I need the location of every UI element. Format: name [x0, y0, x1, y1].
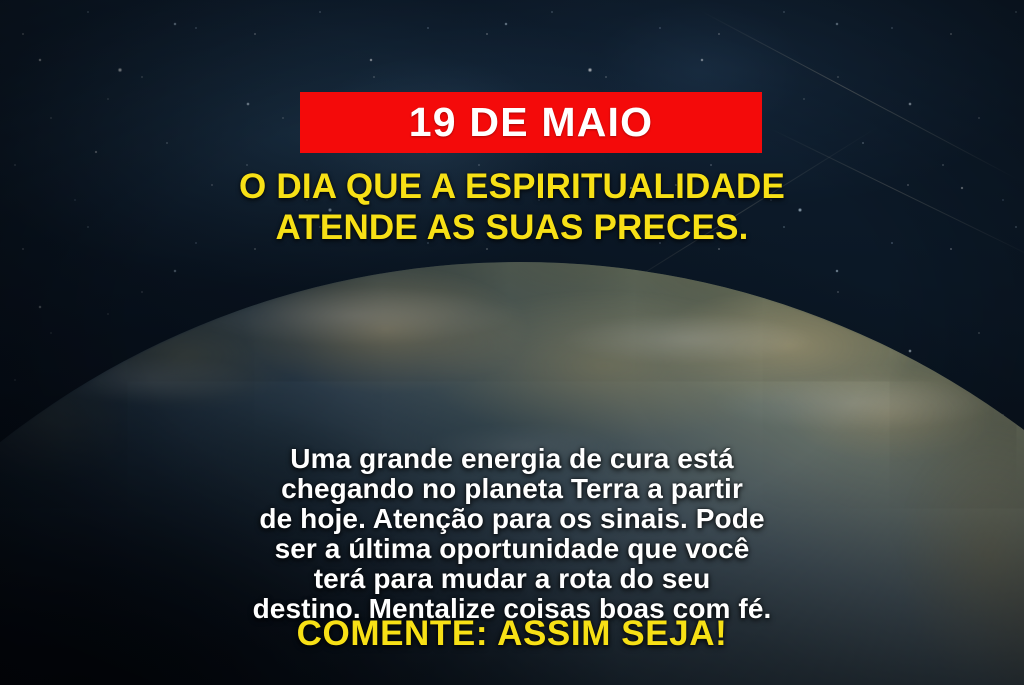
- body-copy: Uma grande energia de cura está chegando…: [0, 444, 1024, 624]
- body-copy-line-2: chegando no planeta Terra a partir: [52, 474, 972, 504]
- body-copy-line-1: Uma grande energia de cura está: [52, 444, 972, 474]
- body-copy-line-4: ser a última oportunidade que você: [52, 534, 972, 564]
- poster-canvas: 19 DE MAIO O DIA QUE A ESPIRITUALIDADE A…: [0, 0, 1024, 685]
- date-banner-label: 19 DE MAIO: [409, 102, 653, 143]
- headline-line-2: ATENDE AS SUAS PRECES.: [46, 207, 978, 248]
- body-copy-line-3: de hoje. Atenção para os sinais. Pode: [52, 504, 972, 534]
- date-banner: 19 DE MAIO: [300, 92, 762, 153]
- poster-content: 19 DE MAIO O DIA QUE A ESPIRITUALIDADE A…: [0, 0, 1024, 685]
- headline-line-1: O DIA QUE A ESPIRITUALIDADE: [46, 166, 978, 207]
- headline: O DIA QUE A ESPIRITUALIDADE ATENDE AS SU…: [0, 166, 1024, 248]
- call-to-action-text: COMENTE: ASSIM SEJA!: [0, 612, 1024, 656]
- body-copy-line-5: terá para mudar a rota do seu: [52, 564, 972, 594]
